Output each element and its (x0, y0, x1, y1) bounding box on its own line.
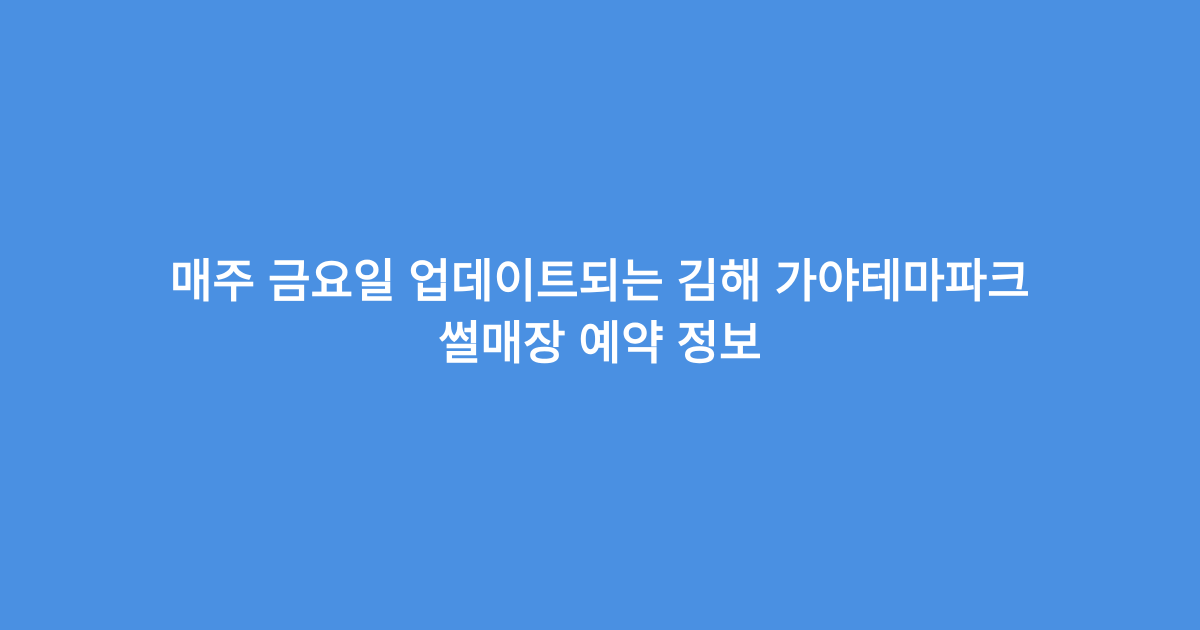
banner-card: 매주 금요일 업데이트되는 김해 가야테마파크 썰매장 예약 정보 (0, 0, 1200, 630)
banner-content: 매주 금요일 업데이트되는 김해 가야테마파크 썰매장 예약 정보 (95, 250, 1105, 374)
banner-title: 매주 금요일 업데이트되는 김해 가야테마파크 썰매장 예약 정보 (115, 250, 1085, 374)
